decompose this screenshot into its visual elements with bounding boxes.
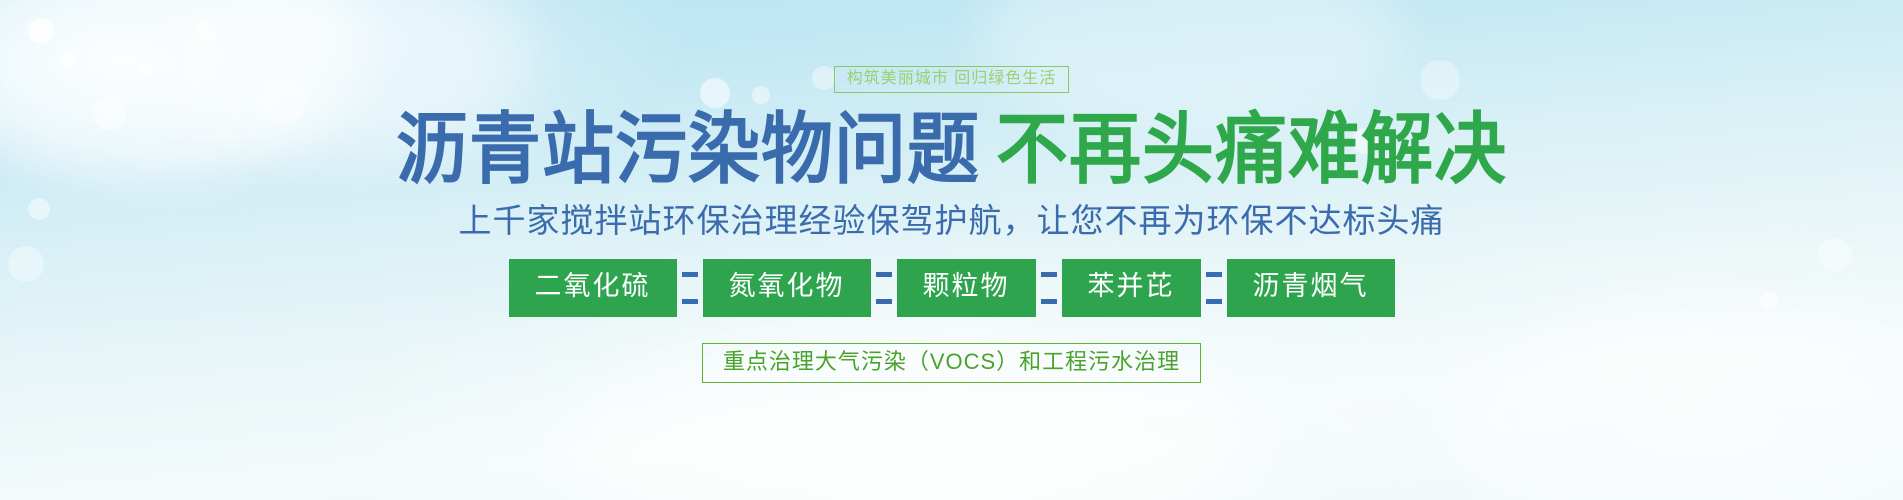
footnote-badge: 重点治理大气污染（VOCS）和工程污水治理 bbox=[702, 343, 1201, 383]
pill-particulate-matter[interactable]: 颗粒物 bbox=[897, 259, 1036, 317]
hero-banner: 构筑美丽城市 回归绿色生活 沥青站污染物问题不再头痛难解决 上千家搅拌站环保治理… bbox=[0, 0, 1903, 500]
banner-content: 构筑美丽城市 回归绿色生活 沥青站污染物问题不再头痛难解决 上千家搅拌站环保治理… bbox=[0, 0, 1903, 500]
page-title: 沥青站污染物问题不再头痛难解决 bbox=[396, 110, 1507, 188]
pill-separator bbox=[1201, 272, 1227, 304]
pill-sulfur-dioxide[interactable]: 二氧化硫 bbox=[509, 259, 677, 317]
headline-green-text: 不再头痛难解决 bbox=[996, 104, 1507, 195]
pill-separator bbox=[1036, 272, 1062, 304]
pill-benzopyrene[interactable]: 苯并芘 bbox=[1062, 259, 1201, 317]
pollutant-pill-row: 二氧化硫 氮氧化物 颗粒物 苯并芘 沥青烟气 bbox=[509, 259, 1395, 317]
eyebrow-badge: 构筑美丽城市 回归绿色生活 bbox=[834, 66, 1069, 93]
pill-nitrogen-oxides[interactable]: 氮氧化物 bbox=[703, 259, 871, 317]
pill-separator bbox=[871, 272, 897, 304]
pill-asphalt-fumes[interactable]: 沥青烟气 bbox=[1227, 259, 1395, 317]
subtitle: 上千家搅拌站环保治理经验保驾护航，让您不再为环保不达标头痛 bbox=[459, 204, 1445, 237]
headline-blue-text: 沥青站污染物问题 bbox=[396, 104, 980, 195]
pill-separator bbox=[677, 272, 703, 304]
